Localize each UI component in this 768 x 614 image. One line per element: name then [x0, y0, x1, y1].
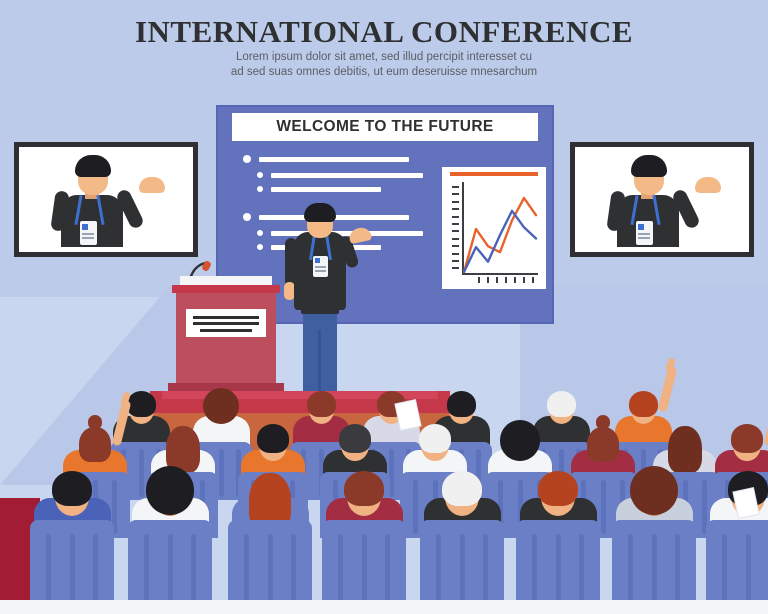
slide-bullet-dot — [243, 213, 251, 221]
slide-bullet-line — [271, 231, 423, 236]
right-monitor — [570, 142, 754, 257]
speaker-hair — [304, 203, 336, 222]
podium-body — [176, 293, 276, 387]
monitor-badge-line-2 — [638, 237, 650, 239]
page-subtitle: Lorem ipsum dolor sit amet, sed illud pe… — [0, 50, 768, 80]
chart-y-tick — [452, 186, 459, 188]
subtitle-line-2: ad sed suas omnes debitis, ut eum deseru… — [0, 65, 768, 80]
chart-y-tick — [452, 223, 459, 225]
badge-line-2 — [315, 270, 326, 272]
monitor-speaker-hair — [631, 155, 667, 177]
chart-y-tick — [452, 208, 459, 210]
chart-y-tick — [452, 216, 459, 218]
slide-bullet-line — [271, 187, 381, 192]
conference-illustration: INTERNATIONAL CONFERENCE Lorem ipsum dol… — [0, 0, 768, 614]
floor-strip — [0, 600, 768, 614]
slide-bullet-dot — [243, 155, 251, 163]
chart-x-tick — [505, 277, 507, 283]
chart-x-tick — [478, 277, 480, 283]
slide-headline: WELCOME TO THE FUTURE — [232, 113, 538, 141]
audience-person-hair — [668, 426, 703, 474]
audience-person-hair — [419, 424, 451, 453]
chart-header-bar — [450, 172, 538, 176]
audience-person-hair — [127, 391, 156, 417]
audience-person-hair — [442, 471, 481, 507]
audience-person-hair — [629, 391, 658, 417]
monitor-speaker-hair — [75, 155, 111, 177]
podium-top — [172, 285, 280, 293]
left-monitor-screen — [19, 147, 193, 252]
chart-x-tick — [496, 277, 498, 283]
audience-person-hair — [52, 471, 91, 507]
audience-person-hair — [203, 388, 239, 424]
slide-bullet-line — [271, 173, 423, 178]
chart-lines — [462, 182, 542, 274]
monitor-speaker-hand — [695, 177, 721, 193]
chart-x-tick — [514, 277, 516, 283]
slide-bullet-dot — [257, 244, 263, 250]
slide-bullet-line — [259, 157, 409, 162]
chart-x-tick — [532, 277, 534, 283]
chart-x-tick — [523, 277, 525, 283]
page-title: INTERNATIONAL CONFERENCE — [0, 14, 768, 50]
monitor-badge-line-2 — [82, 237, 94, 239]
chart-y-tick — [452, 193, 459, 195]
audience-person-hair — [339, 424, 371, 453]
chart-y-tick — [452, 267, 459, 269]
podium-sign-line-2 — [193, 322, 259, 325]
monitor-badge-line-1 — [638, 233, 650, 235]
chart-y-tick — [452, 245, 459, 247]
chart-y-tick — [452, 238, 459, 240]
podium-sign-line-3 — [200, 329, 252, 332]
monitor-speaker-hand — [139, 177, 165, 193]
audience-person-hair — [257, 424, 289, 453]
subtitle-line-1: Lorem ipsum dolor sit amet, sed illud pe… — [0, 50, 768, 65]
seat-rib — [139, 449, 144, 497]
audience-person-hair — [538, 471, 577, 507]
seat-rib — [219, 449, 224, 497]
chart-y-tick — [452, 260, 459, 262]
slide-bullet-dot — [257, 186, 263, 192]
slide-bullet-dot — [257, 230, 263, 236]
audience-person-hair — [500, 420, 540, 460]
chart-y-tick — [452, 230, 459, 232]
seat-rib — [601, 480, 606, 534]
audience-person-hair — [547, 391, 576, 417]
audience-person-hair — [307, 391, 336, 417]
seat-rib — [413, 480, 418, 534]
monitor-badge-line-1 — [82, 233, 94, 235]
audience-person-hair — [731, 424, 763, 453]
slide-bullet-dot — [257, 172, 263, 178]
chart-series-blue — [464, 211, 536, 272]
audience-person-hair — [447, 391, 476, 417]
audience-person-hair — [79, 427, 110, 462]
badge-line-1 — [315, 266, 326, 268]
audience-person-hair — [587, 427, 618, 462]
monitor-badge-photo — [638, 224, 644, 230]
monitor-badge-photo — [82, 224, 88, 230]
badge-photo-icon — [315, 258, 320, 263]
chart-y-tick — [452, 201, 459, 203]
left-monitor — [14, 142, 198, 257]
right-monitor-screen — [575, 147, 749, 252]
chart-x-tick — [487, 277, 489, 283]
chart-y-tick — [452, 253, 459, 255]
audience-person-hair — [344, 471, 383, 507]
podium-sign-line-1 — [193, 316, 259, 319]
